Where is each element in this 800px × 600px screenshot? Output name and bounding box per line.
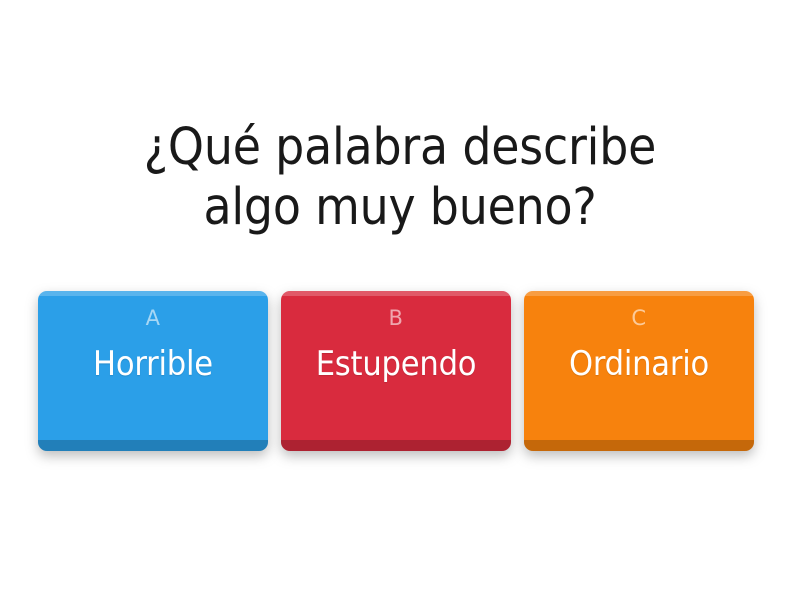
answer-label-c: Ordinario — [524, 346, 754, 383]
answer-letter-c: C — [631, 308, 646, 329]
answer-letter-a: A — [146, 308, 161, 329]
question-area: ¿Qué palabra describe algo muy bueno? — [40, 118, 760, 237]
answer-options-row: A Horrible B Estupendo C Ordinario — [38, 291, 754, 451]
answer-option-c[interactable]: C Ordinario — [524, 291, 754, 451]
answer-label-b: Estupendo — [281, 346, 511, 383]
answer-label-a: Horrible — [38, 346, 268, 383]
answer-option-b[interactable]: B Estupendo — [281, 291, 511, 451]
question-text: ¿Qué palabra describe algo muy bueno? — [40, 118, 760, 237]
quiz-slide: ¿Qué palabra describe algo muy bueno? A … — [0, 0, 800, 600]
answer-option-a[interactable]: A Horrible — [38, 291, 268, 451]
answer-letter-b: B — [389, 308, 404, 329]
